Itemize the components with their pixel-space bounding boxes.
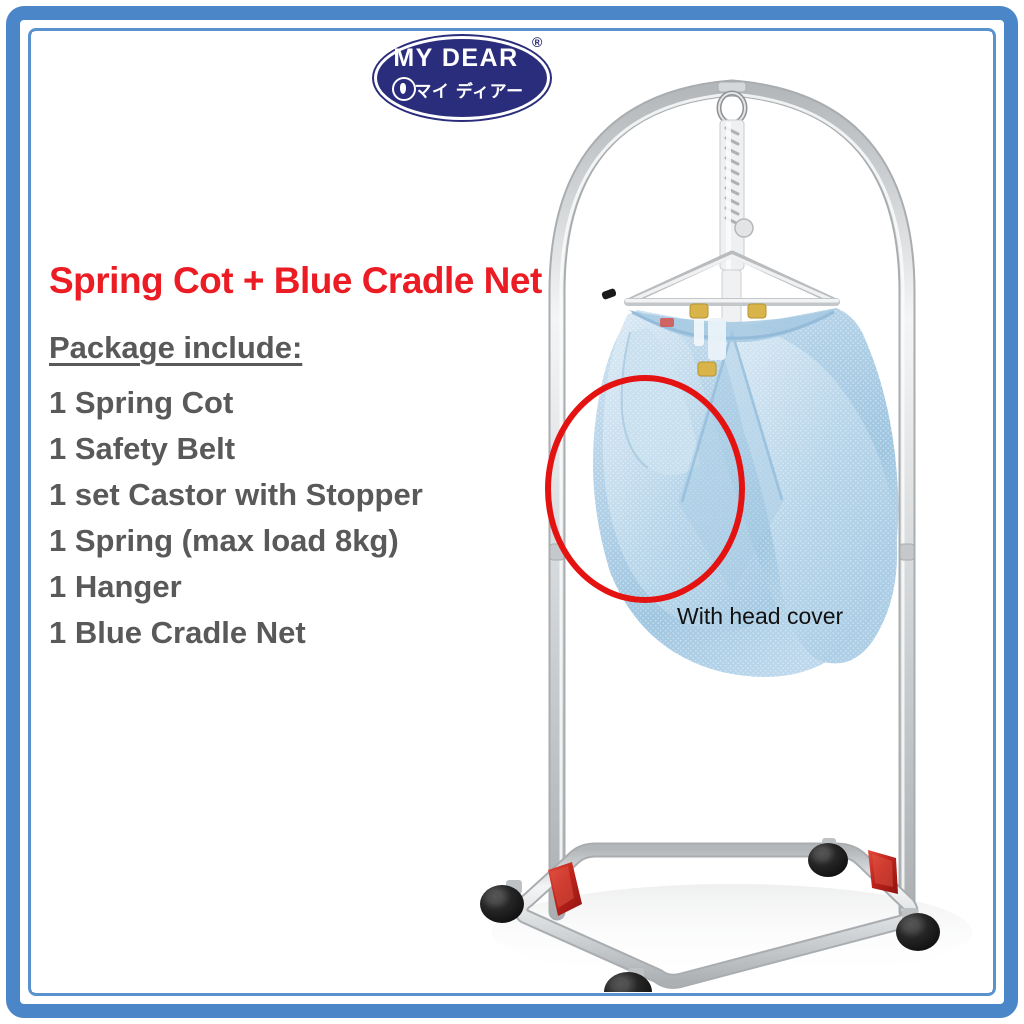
content-area: MY DEAR マイ ディアー ® Spring Cot + Blue Crad… [32, 32, 992, 992]
product-image-canvas: MY DEAR マイ ディアー ® Spring Cot + Blue Crad… [0, 0, 1024, 1024]
spring-cot-illustration [432, 32, 992, 992]
castor-wheel [480, 880, 524, 923]
annotation-caption: With head cover [677, 603, 843, 630]
product-photo: With head cover [432, 32, 992, 992]
package-heading: Package include: [49, 330, 302, 366]
